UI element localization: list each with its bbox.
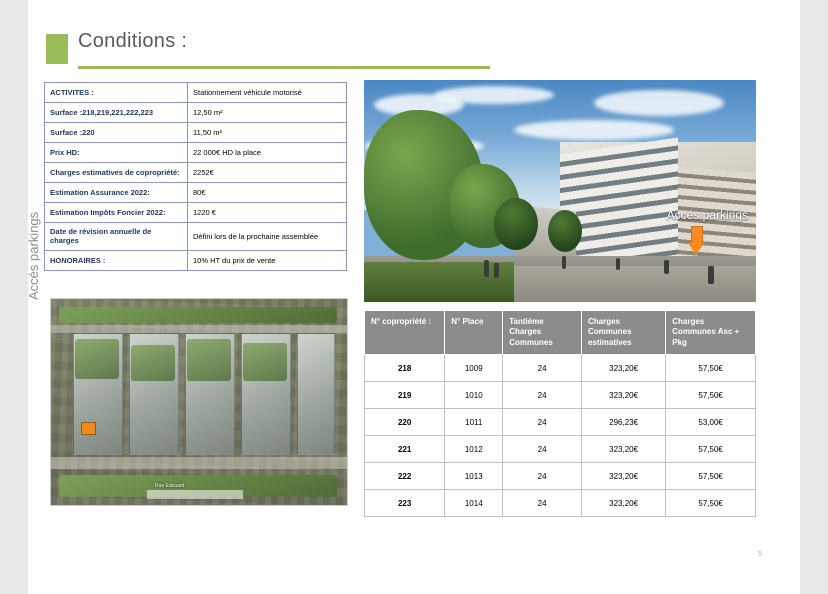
info-value: 22 000€ HD la place [188,143,347,163]
info-value: 1220 € [188,203,347,223]
table-header-row: N° copropriété : N° Place Tantième Charg… [365,311,756,355]
info-value: Stationnement véhicule motorisé [188,83,347,103]
cell-charges-estimatives: 323,20€ [581,436,665,463]
info-value: Défini lors de la prochaine assemblée [188,223,347,251]
cell-tantieme: 24 [503,436,582,463]
column-header-charges-asc-pkg: Charges Communes Asc + Pkg [666,311,756,355]
aerial-access-caption: Accés parkings [26,100,41,300]
cell-copropriete: 222 [365,463,445,490]
building-footprint [297,333,335,455]
table-row: 222 1013 24 323,20€ 57,50€ [365,463,756,490]
cell-charges-asc-pkg: 57,50€ [666,355,756,382]
table-row: 218 1009 24 323,20€ 57,50€ [365,355,756,382]
cell-charges-asc-pkg: 57,50€ [666,436,756,463]
table-row: Estimation Assurance 2022: 80€ [45,183,347,203]
cell-charges-asc-pkg: 57,50€ [666,382,756,409]
cell-copropriete: 220 [365,409,445,436]
info-key: Charges estimatives de copropriété: [45,163,188,183]
lawn [364,262,514,302]
cell-copropriete: 219 [365,382,445,409]
table-row: Surface :218,219,221,222,223 12,50 m² [45,103,347,123]
slide-page: Conditions : ACTIVITES : Stationnement v… [0,0,828,594]
info-key: Surface :220 [45,123,188,143]
slide-content: Conditions : ACTIVITES : Stationnement v… [28,0,800,594]
road [51,457,347,469]
column-header-place: N° Place [445,311,503,355]
building-render-image: Accés parkings [364,80,756,302]
roof-garden [187,339,231,381]
table-row: Prix HD: 22 000€ HD la place [45,143,347,163]
table-row: ACTIVITES : Stationnement véhicule motor… [45,83,347,103]
road [51,325,347,333]
roof-garden [131,345,175,381]
cloud [514,120,674,140]
pedestrian [484,260,489,277]
table-row: 223 1014 24 323,20€ 57,50€ [365,490,756,517]
cell-charges-asc-pkg: 57,50€ [666,463,756,490]
map-scale-bar [147,490,243,499]
conditions-info-table: ACTIVITES : Stationnement véhicule motor… [44,82,347,271]
table-row: 221 1012 24 323,20€ 57,50€ [365,436,756,463]
cell-charges-asc-pkg: 57,50€ [666,490,756,517]
info-key: Estimation Assurance 2022: [45,183,188,203]
cell-copropriete: 221 [365,436,445,463]
cloud [594,90,724,116]
cell-charges-estimatives: 323,20€ [581,355,665,382]
title-underline [78,66,490,69]
cell-place: 1012 [445,436,503,463]
cell-charges-estimatives: 323,20€ [581,490,665,517]
cell-charges-estimatives: 296,23€ [581,409,665,436]
aerial-site-plan-image: Rue Edouard [50,298,348,506]
down-arrow-icon [688,226,704,256]
render-access-label: Accés parkings [667,208,748,222]
pedestrian [664,260,669,274]
page-left-margin-bar [0,0,28,594]
cell-charges-estimatives: 323,20€ [581,382,665,409]
cell-charges-asc-pkg: 53,00€ [666,409,756,436]
info-key: Prix HD: [45,143,188,163]
cell-tantieme: 24 [503,409,582,436]
info-key: Surface :218,219,221,222,223 [45,103,188,123]
street-label: Rue Edouard [155,483,184,489]
table-row: Charges estimatives de copropriété: 2252… [45,163,347,183]
cell-tantieme: 24 [503,355,582,382]
tree [494,198,538,250]
cell-tantieme: 24 [503,382,582,409]
page-title: Conditions : [78,30,187,53]
table-row: 219 1010 24 323,20€ 57,50€ [365,382,756,409]
cell-copropriete: 223 [365,490,445,517]
title-accent-square [46,34,68,64]
column-header-copropriete: N° copropriété : [365,311,445,355]
cell-charges-estimatives: 323,20€ [581,463,665,490]
cell-place: 1013 [445,463,503,490]
info-value: 12,50 m² [188,103,347,123]
page-number: 5 [758,551,762,558]
info-value: 10% HT du prix de vente [188,250,347,270]
column-header-tantieme: Tantième Charges Communes [503,311,582,355]
green-strip [59,307,337,323]
page-right-margin-bar [800,0,828,594]
cell-place: 1014 [445,490,503,517]
copropriete-charges-table: N° copropriété : N° Place Tantième Charg… [364,310,756,517]
cloud [434,86,554,104]
page-title-block: Conditions : [46,30,486,70]
table-row: Date de révision annuelle de charges Déf… [45,223,347,251]
cell-tantieme: 24 [503,463,582,490]
cell-tantieme: 24 [503,490,582,517]
info-key: Date de révision annuelle de charges [45,223,188,251]
cell-place: 1009 [445,355,503,382]
cell-copropriete: 218 [365,355,445,382]
info-key: HONORAIRES : [45,250,188,270]
column-header-charges-estimatives: Charges Communes estimatives [581,311,665,355]
table-row: Estimation Impôts Foncier 2022: 1220 € [45,203,347,223]
pedestrian [708,266,714,284]
cell-place: 1010 [445,382,503,409]
info-value: 11,50 m² [188,123,347,143]
info-value: 80€ [188,183,347,203]
roof-garden [243,343,287,381]
cell-place: 1011 [445,409,503,436]
table-row: HONORAIRES : 10% HT du prix de vente [45,250,347,270]
parking-access-marker [81,422,96,435]
tree [548,210,582,252]
table-row: 220 1011 24 296,23€ 53,00€ [365,409,756,436]
pedestrian [562,256,566,269]
pedestrian [616,258,620,270]
pedestrian [494,263,499,278]
info-key: Estimation Impôts Foncier 2022: [45,203,188,223]
info-key: ACTIVITES : [45,83,188,103]
table-row: Surface :220 11,50 m² [45,123,347,143]
roof-garden [75,339,119,379]
info-value: 2252€ [188,163,347,183]
